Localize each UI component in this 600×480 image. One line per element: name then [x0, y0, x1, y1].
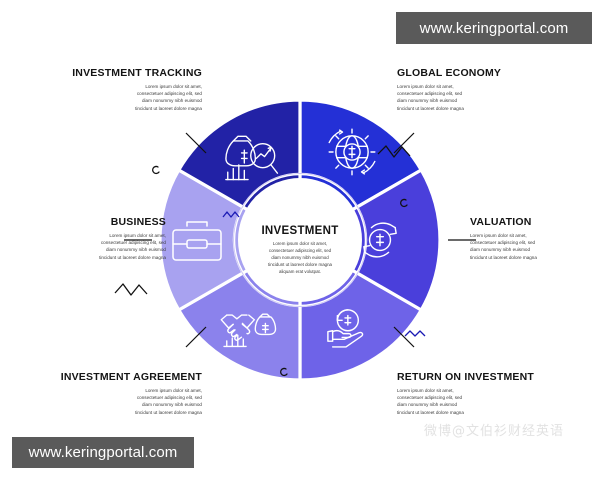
body-line: diam nonummy nibh euismod [110, 401, 202, 408]
watermark-chinese: 微博@文伯衫财经英语 [424, 420, 564, 439]
body-line: consectetuer adipiscing elit, sed [110, 394, 202, 401]
body-line: diam nonummy nibh euismod [74, 246, 166, 253]
label-body-return-on-investment: Lorem ipsum dolor sit amet, consectetuer… [397, 387, 493, 417]
body-line: tincidunt ut laoreet dolore magna [470, 254, 566, 261]
body-line: consectetuer adipiscing elit, sed [74, 239, 166, 246]
body-line: Lorem ipsum dolor sit amet, [110, 83, 202, 90]
center-title: INVESTMENT [261, 225, 338, 237]
label-valuation[interactable]: VALUATION Lorem ipsum dolor sit amet, co… [470, 217, 600, 261]
label-body-valuation: Lorem ipsum dolor sit amet, consectetuer… [470, 232, 566, 262]
body-line: consectetuer adipiscing elit, sed [110, 90, 202, 97]
label-investment-agreement[interactable]: INVESTMENT AGREEMENT Lorem ipsum dolor s… [42, 372, 202, 416]
body-line: consectetuer adipiscing elit, sed [397, 394, 493, 401]
label-body-global-economy: Lorem ipsum dolor sit amet, consectetuer… [397, 83, 493, 113]
label-title-business: BUSINESS [22, 217, 166, 229]
label-body-investment-agreement: Lorem ipsum dolor sit amet, consectetuer… [110, 387, 202, 417]
body-line: diam nonummy nibh euismod [397, 401, 493, 408]
label-global-economy[interactable]: GLOBAL ECONOMY Lorem ipsum dolor sit ame… [397, 68, 549, 112]
body-line: Lorem ipsum dolor sit amet, [74, 232, 166, 239]
label-title-return-on-investment: RETURN ON INVESTMENT [397, 372, 557, 384]
body-line: Lorem ipsum dolor sit amet, [110, 387, 202, 394]
watermark-bottom: www.keringportal.com [12, 437, 194, 468]
body-line: diam nonummy nibh euismod [470, 246, 566, 253]
label-title-investment-agreement: INVESTMENT AGREEMENT [42, 372, 202, 384]
center-body-line-4: tincidunt ut laoreet dolore magna [268, 262, 333, 267]
body-line: Lorem ipsum dolor sit amet, [397, 387, 493, 394]
label-investment-tracking[interactable]: INVESTMENT TRACKING Lorem ipsum dolor si… [50, 68, 202, 112]
label-return-on-investment[interactable]: RETURN ON INVESTMENT Lorem ipsum dolor s… [397, 372, 557, 416]
watermark-top: www.keringportal.com [396, 12, 592, 44]
center-body-line-1: Lorem ipsum dolor sit amet, [273, 241, 327, 246]
body-line: diam nonummy nibh euismod [397, 97, 493, 104]
center-body-line-2: consectetuer adipiscing elit, sed [269, 248, 332, 253]
label-title-global-economy: GLOBAL ECONOMY [397, 68, 549, 80]
body-line: Lorem ipsum dolor sit amet, [397, 83, 493, 90]
body-line: tincidunt ut laoreet dolore magna [397, 409, 493, 416]
body-line: consectetuer adipiscing elit, sed [470, 239, 566, 246]
body-line: Lorem ipsum dolor sit amet, [470, 232, 566, 239]
center-body-line-5: aliquam erat volutpat. [279, 269, 321, 274]
globe-dollar-target-icon [329, 129, 375, 175]
label-body-investment-tracking: Lorem ipsum dolor sit amet, consectetuer… [110, 83, 202, 113]
body-line: tincidunt ut laoreet dolore magna [397, 105, 493, 112]
body-line: diam nonummy nibh euismod [110, 97, 202, 104]
label-title-valuation: VALUATION [470, 217, 600, 229]
label-business[interactable]: BUSINESS Lorem ipsum dolor sit amet, con… [22, 217, 166, 261]
body-line: tincidunt ut laoreet dolore magna [110, 105, 202, 112]
center-body-line-3: diam nonummy nibh euismod [271, 255, 329, 260]
body-line: consectetuer adipiscing elit, sed [397, 90, 493, 97]
label-title-investment-tracking: INVESTMENT TRACKING [50, 68, 202, 80]
label-body-business: Lorem ipsum dolor sit amet, consectetuer… [74, 232, 166, 262]
center-disc [238, 178, 362, 302]
body-line: tincidunt ut laoreet dolore magna [74, 254, 166, 261]
body-line: tincidunt ut laoreet dolore magna [110, 409, 202, 416]
